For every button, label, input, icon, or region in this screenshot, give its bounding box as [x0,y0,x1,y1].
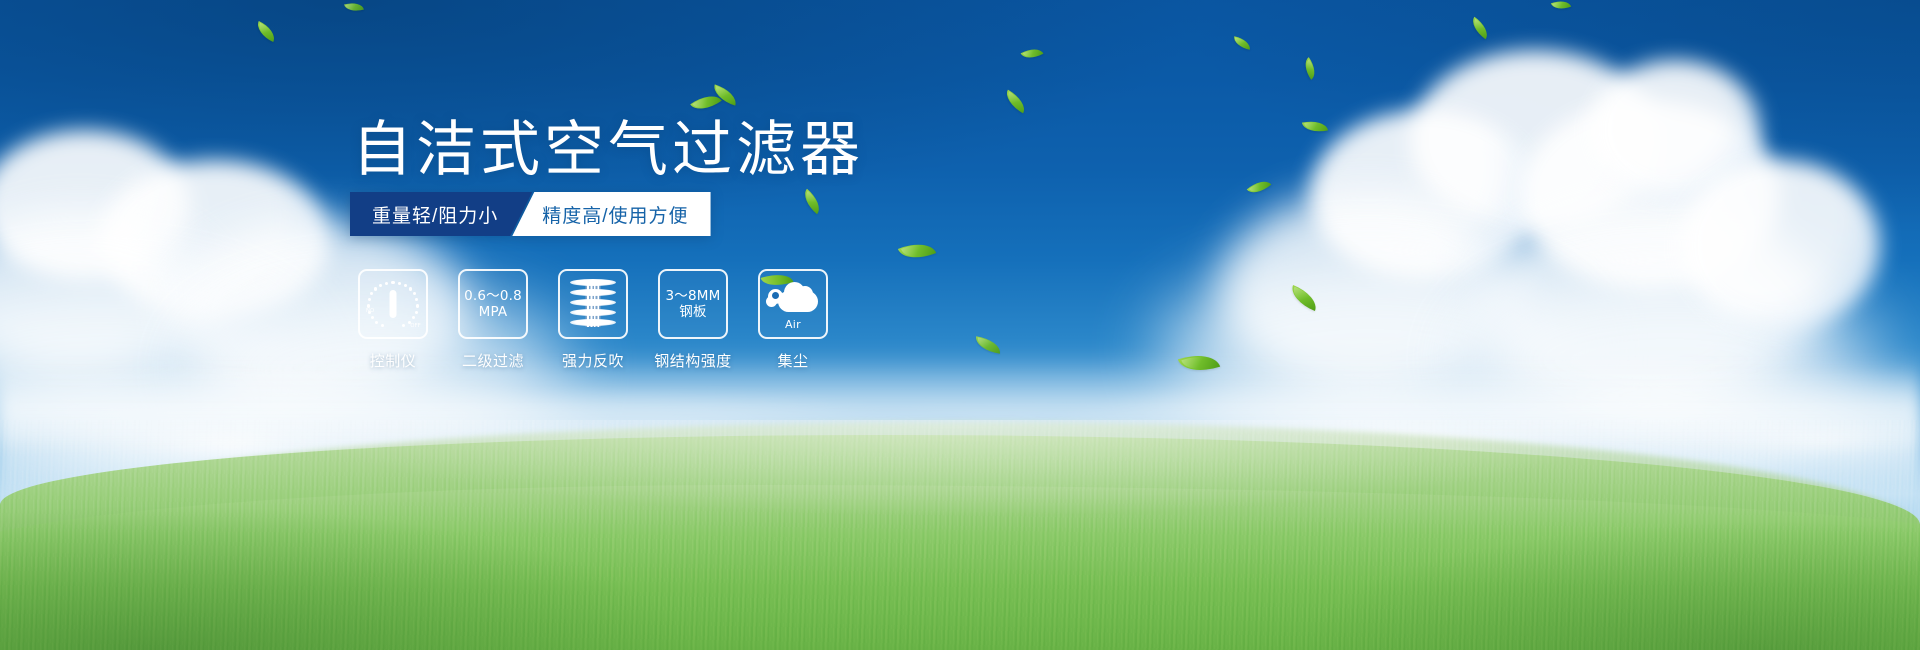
subtitle-tabs: 重量轻/阻力小 精度高/使用方便 [350,192,711,236]
feature-icon-box: Air [758,269,828,339]
feature-label: 钢结构强度 [654,350,732,371]
feature-box-text: 0.6～0.8 MPA [464,288,522,321]
feature-item-controller[interactable]: NO OFF 控制仪 [358,269,428,371]
subtitle-tab-2[interactable]: 精度高/使用方便 [512,192,710,236]
grass-layer [0,350,1920,650]
feature-list: NO OFF 控制仪 0.6～0.8 MPA 二级过滤 [358,269,828,371]
feature-item-dust[interactable]: Air 集尘 [758,269,828,371]
feature-item-steel[interactable]: 3～8MM 钢板 钢结构强度 [658,269,728,371]
banner-stage: 自洁式空气过滤器 重量轻/阻力小 精度高/使用方便 [0,0,1920,650]
feature-item-backblow[interactable]: 强力反吹 [558,269,628,371]
dial-label-off: OFF [410,323,421,329]
feature-icon-box: 0.6～0.8 MPA [458,269,528,339]
feature-icon-box: 3～8MM 钢板 [658,269,728,339]
feature-icon-box [558,269,628,339]
dial-gauge-icon: NO OFF [367,278,419,330]
air-label: Air [766,318,820,331]
grass-shading [0,420,1920,650]
feature-box-text: 3～8MM 钢板 [666,288,721,321]
feature-label: 集尘 [777,350,808,371]
feature-label: 控制仪 [370,350,417,371]
dial-label-no: NO [366,308,374,314]
feature-label: 二级过滤 [462,350,524,371]
cloud-air-icon: Air [766,279,820,329]
stacked-filter-discs-icon [570,279,616,329]
feature-icon-box: NO OFF [358,269,428,339]
feature-item-pressure[interactable]: 0.6～0.8 MPA 二级过滤 [458,269,528,371]
page-title: 自洁式空气过滤器 [352,117,864,183]
feature-label: 强力反吹 [562,350,624,371]
subtitle-tab-1[interactable]: 重量轻/阻力小 [350,192,532,236]
